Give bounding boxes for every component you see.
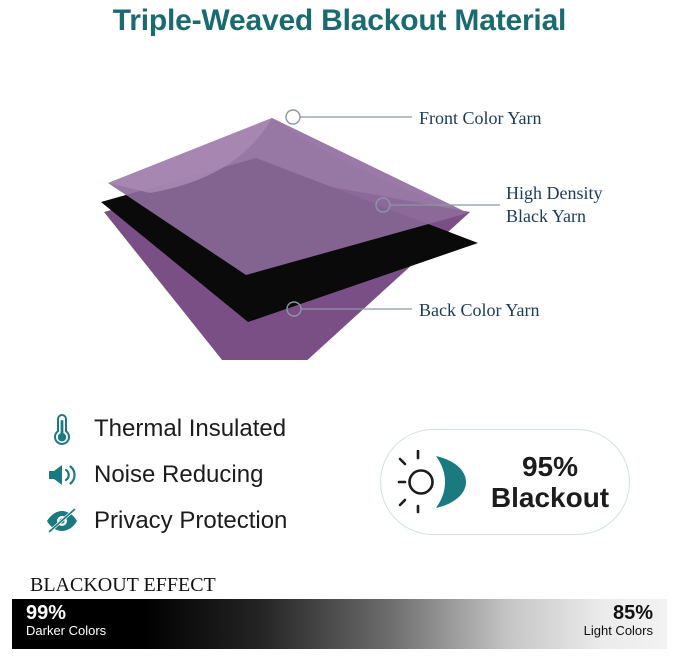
callout-label-back: Back Color Yarn [419,299,540,322]
badge-text: 95% Blackout [477,451,629,514]
badge-caption: Blackout [491,482,609,513]
callout-label-high-density-line1: High Density [506,183,603,203]
fabric-layers-diagram: Front Color Yarn High Density Black Yarn… [0,60,679,360]
callout-label-high-density: High Density Black Yarn [506,182,603,227]
gradient-left-caption: Darker Colors [26,624,106,638]
gradient-left-percent: 99% [26,603,106,624]
gradient-left-stat: 99% Darker Colors [26,603,106,638]
sun-blocked-icon [391,439,477,525]
gradient-right-percent: 85% [584,603,653,624]
speaker-sound-icon [42,457,82,493]
blackout-effect-gradient-bar: 99% Darker Colors 85% Light Colors [12,599,667,649]
blackout-badge: 95% Blackout [380,429,630,535]
gradient-right-stat: 85% Light Colors [584,603,653,638]
page-title: Triple-Weaved Blackout Material [0,4,679,38]
feature-thermal-insulated: Thermal Insulated [42,406,372,452]
feature-label: Thermal Insulated [94,415,286,443]
feature-label: Privacy Protection [94,507,287,535]
feature-privacy-protection: Privacy Protection [42,498,372,544]
circle-marker-icon [286,110,300,124]
callout-label-high-density-line2: Black Yarn [506,206,586,226]
eye-slash-icon [42,503,82,539]
gradient-right-caption: Light Colors [584,624,653,638]
feature-list: Thermal Insulated Noise Reducing Privacy… [42,406,372,544]
blackout-effect-title: BLACKOUT EFFECT [30,574,216,597]
thermometer-icon [42,411,82,447]
feature-noise-reducing: Noise Reducing [42,452,372,498]
callout-label-front: Front Color Yarn [419,107,542,130]
feature-label: Noise Reducing [94,461,263,489]
badge-value: 95% [522,451,578,482]
